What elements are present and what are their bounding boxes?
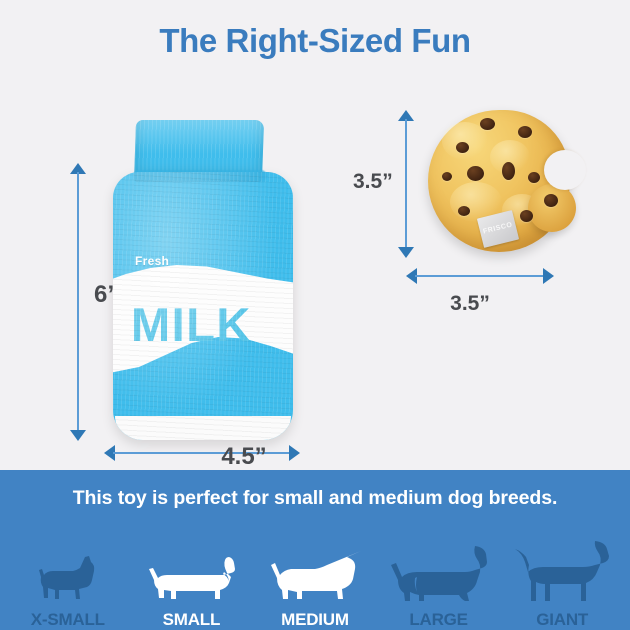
cookie-width-arrow xyxy=(406,268,554,284)
size-option-large[interactable]: LARGE xyxy=(377,520,501,630)
size-recommendation-banner: This toy is perfect for small and medium… xyxy=(0,470,630,630)
size-option-x-small[interactable]: X-SMALL xyxy=(6,520,130,630)
size-option-label: X-SMALL xyxy=(31,610,105,630)
size-option-label: GIANT xyxy=(536,610,588,630)
chihuahua-silhouette-icon xyxy=(31,541,105,603)
cookie-height-arrow xyxy=(398,110,414,258)
chocolate-chip xyxy=(456,142,469,153)
size-option-label: MEDIUM xyxy=(281,610,349,630)
cookie-lobe xyxy=(528,184,576,232)
dog-size-scale: X-SMALL SMALL MEDIUM xyxy=(0,520,630,630)
milk-height-arrow xyxy=(70,163,86,441)
size-option-label: SMALL xyxy=(163,610,221,630)
cookie-width-label: 3.5” xyxy=(450,292,490,316)
product-size-diagram: Fresh MILK 6” 4.5” xyxy=(0,70,630,470)
cookie-bite-notch xyxy=(544,150,586,190)
carton-fresh-label: Fresh xyxy=(135,254,169,268)
chocolate-chip xyxy=(458,206,470,216)
carton-body: Fresh MILK xyxy=(113,172,293,440)
arrow-head-down-icon xyxy=(398,247,414,258)
cookie-plush-toy: FRISCO xyxy=(428,110,570,252)
chocolate-chip xyxy=(467,166,484,181)
golden-retriever-silhouette-icon xyxy=(387,541,491,603)
carton-spout-ridge xyxy=(133,170,267,182)
carton-bottom-rim xyxy=(115,416,291,440)
chocolate-chip xyxy=(528,172,540,183)
dachshund-silhouette-icon xyxy=(143,541,239,603)
cookie-height-label: 3.5” xyxy=(353,170,393,194)
arrow-line xyxy=(77,172,79,432)
chocolate-chip xyxy=(520,210,533,222)
chocolate-chip xyxy=(502,162,515,180)
milk-width-arrow xyxy=(104,445,300,461)
size-option-small[interactable]: SMALL xyxy=(130,520,254,630)
carton-milk-label: MILK xyxy=(131,297,252,352)
arrow-head-down-icon xyxy=(70,430,86,441)
size-option-giant[interactable]: GIANT xyxy=(500,520,624,630)
chocolate-chip xyxy=(544,194,558,207)
frisco-tag-label: FRISCO xyxy=(482,221,513,235)
chocolate-chip xyxy=(442,172,452,181)
page-title: The Right-Sized Fun xyxy=(0,22,630,60)
banner-message: This toy is perfect for small and medium… xyxy=(0,487,630,510)
cookie-group: FRISCO 3.5” 3.5” xyxy=(350,110,590,370)
milk-carton-plush-toy: Fresh MILK xyxy=(113,120,293,440)
chocolate-chip xyxy=(480,118,495,130)
arrow-head-right-icon xyxy=(543,268,554,284)
arrow-line xyxy=(415,275,545,277)
arrow-line xyxy=(405,119,407,249)
size-option-label: LARGE xyxy=(409,610,468,630)
milk-width-label: 4.5” xyxy=(221,443,266,471)
milk-carton-group: Fresh MILK 6” 4.5” xyxy=(58,115,348,475)
arrow-head-right-icon xyxy=(289,445,300,461)
size-option-medium[interactable]: MEDIUM xyxy=(253,520,377,630)
bull-terrier-silhouette-icon xyxy=(267,541,363,603)
chocolate-chip xyxy=(518,126,532,138)
great-dane-silhouette-icon xyxy=(511,541,613,603)
